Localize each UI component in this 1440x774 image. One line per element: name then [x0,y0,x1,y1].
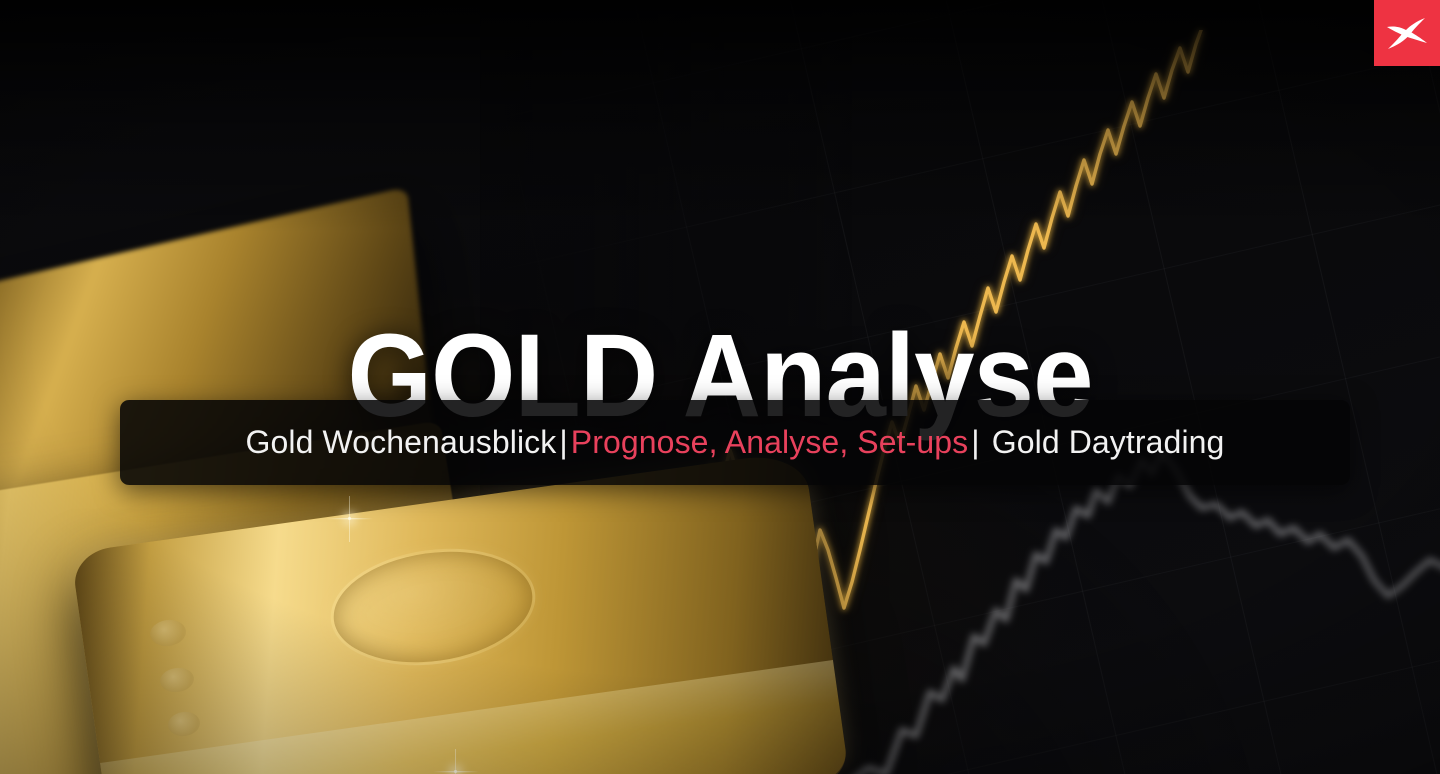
subtitle-highlight: Prognose, Analyse, Set-ups [571,424,969,460]
subtitle-bar: Gold Wochenausblick|Prognose, Analyse, S… [120,400,1350,485]
gold-sparkle [454,770,457,773]
brand-logo[interactable] [1374,0,1440,66]
gold-sparkle [348,517,351,520]
subtitle-part-2: Gold Daytrading [992,424,1225,460]
x-swoosh-icon [1385,16,1429,50]
subtitle-text: Gold Wochenausblick|Prognose, Analyse, S… [246,424,1225,461]
subtitle-separator-2: | [968,424,982,460]
gold-analysis-banner: GOLD Analyse Gold Wochenausblick|Prognos… [0,0,1440,774]
subtitle-separator-1: | [556,424,570,460]
subtitle-part-1: Gold Wochenausblick [246,424,557,460]
